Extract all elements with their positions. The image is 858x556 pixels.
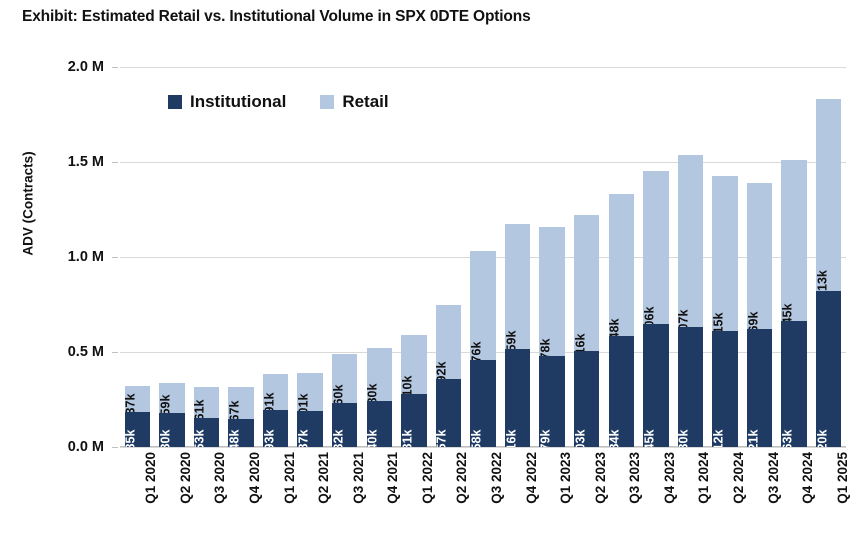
- bar-value-label-retail: 260k: [332, 385, 345, 403]
- bar-segment-retail[interactable]: 659k: [505, 224, 530, 349]
- chart-title: Exhibit: Estimated Retail vs. Institutio…: [22, 8, 531, 26]
- bar-group[interactable]: 678k479k: [539, 227, 564, 447]
- bar-value-label-retail: 137k: [125, 394, 138, 412]
- bar-value-label-institutional: 503k: [574, 429, 587, 447]
- bar-value-label-institutional: 458k: [470, 429, 483, 447]
- x-axis-tick-label: Q1 2025: [835, 452, 850, 504]
- bar-value-label-institutional: 180k: [159, 429, 172, 447]
- x-axis-tick-label: Q1 2021: [282, 452, 297, 504]
- bar-value-label-retail: 907k: [678, 309, 691, 327]
- x-axis-tick-label: Q4 2023: [662, 452, 677, 504]
- bar-value-label-retail: 716k: [574, 334, 587, 352]
- bar-segment-institutional[interactable]: 663k: [781, 321, 806, 447]
- x-axis-tick-label: Q4 2020: [247, 452, 262, 504]
- bar-group[interactable]: 201k187k: [297, 373, 322, 447]
- bar-value-label-institutional: 630k: [678, 429, 691, 447]
- bar-segment-retail[interactable]: 678k: [539, 227, 564, 356]
- bar-segment-retail[interactable]: 392k: [436, 305, 461, 379]
- bar-group[interactable]: 907k630k: [678, 155, 703, 447]
- bar-value-label-retail: 201k: [298, 394, 311, 412]
- x-axis-tick-label: Q3 2023: [627, 452, 642, 504]
- bar-segment-retail[interactable]: 167k: [228, 387, 253, 419]
- bar-value-label-institutional: 187k: [298, 429, 311, 447]
- bar-group[interactable]: 659k516k: [505, 224, 530, 447]
- legend-swatch-institutional: [168, 95, 182, 109]
- bar-group[interactable]: 716k503k: [574, 215, 599, 447]
- bar-segment-retail[interactable]: 1013k: [816, 99, 841, 291]
- legend-item[interactable]: Retail: [320, 92, 388, 112]
- bar-segment-retail[interactable]: 159k: [159, 383, 184, 413]
- x-axis-tick-label: Q3 2021: [351, 452, 366, 504]
- bar-group[interactable]: 392k357k: [436, 305, 461, 447]
- bar-segment-institutional[interactable]: 584k: [609, 336, 634, 447]
- x-axis-tick-label: Q2 2020: [178, 452, 193, 504]
- bar-segment-retail[interactable]: 161k: [194, 387, 219, 418]
- legend-swatch-retail: [320, 95, 334, 109]
- bar-segment-retail[interactable]: 310k: [401, 335, 426, 394]
- bar-segment-institutional[interactable]: 357k: [436, 379, 461, 447]
- x-axis-tick-label: Q2 2023: [593, 452, 608, 504]
- bar-segment-institutional[interactable]: 148k: [228, 419, 253, 447]
- legend-label: Retail: [342, 92, 388, 112]
- bar-segment-institutional[interactable]: 193k: [263, 410, 288, 447]
- bar-value-label-retail: 815k: [712, 313, 725, 331]
- bar-value-label-institutional: 516k: [505, 429, 518, 447]
- x-axis-tick-label: Q1 2020: [143, 452, 158, 504]
- x-axis-tick-label: Q1 2024: [696, 452, 711, 504]
- bar-value-label-retail: 659k: [505, 331, 518, 349]
- bar-value-label-retail: 161k: [194, 400, 207, 418]
- bar-value-label-retail: 280k: [367, 384, 380, 402]
- bar-segment-retail[interactable]: 137k: [125, 386, 150, 412]
- bar-value-label-retail: 576k: [470, 342, 483, 360]
- bar-segment-retail[interactable]: 907k: [678, 155, 703, 327]
- x-axis-tick-label: Q3 2024: [766, 452, 781, 504]
- bar-value-label-retail: 392k: [436, 361, 449, 379]
- bar-segment-retail[interactable]: 280k: [367, 348, 392, 401]
- y-axis-tick-label: 0.0 M: [12, 439, 104, 455]
- bar-value-label-institutional: 148k: [228, 429, 241, 447]
- legend-label: Institutional: [190, 92, 286, 112]
- bar-group[interactable]: 159k180k: [159, 383, 184, 447]
- bar-segment-institutional[interactable]: 185k: [125, 412, 150, 447]
- x-axis-tick-label: Q4 2022: [524, 452, 539, 504]
- bar-group[interactable]: 167k148k: [228, 387, 253, 447]
- bar-value-label-retail: 159k: [159, 395, 172, 413]
- bar-group[interactable]: 137k185k: [125, 386, 150, 447]
- bar-value-label-retail: 769k: [747, 311, 760, 329]
- bar-group[interactable]: 769k621k: [747, 183, 772, 447]
- bar-value-label-institutional: 612k: [712, 429, 725, 447]
- y-axis-tick-mark: [112, 67, 118, 68]
- bar-segment-retail[interactable]: 815k: [712, 176, 737, 331]
- bar-segment-retail[interactable]: 716k: [574, 215, 599, 351]
- bar-value-label-institutional: 232k: [332, 429, 345, 447]
- bar-group[interactable]: 1013k820k: [816, 99, 841, 447]
- bar-segment-institutional[interactable]: 240k: [367, 401, 392, 447]
- bar-segment-institutional[interactable]: 516k: [505, 349, 530, 447]
- x-axis-tick-label: Q1 2023: [558, 452, 573, 504]
- y-axis-tick-mark: [112, 447, 118, 448]
- gridline: [120, 447, 846, 448]
- bar-value-label-institutional: 663k: [782, 429, 795, 447]
- y-axis-tick-label: 0.5 M: [12, 344, 104, 360]
- bar-group[interactable]: 806k645k: [643, 171, 668, 447]
- bar-value-label-institutional: 584k: [609, 429, 622, 447]
- bar-value-label-institutional: 479k: [540, 429, 553, 447]
- bar-value-label-retail: 748k: [609, 318, 622, 336]
- bar-segment-institutional[interactable]: 180k: [159, 413, 184, 447]
- y-axis-tick-mark: [112, 162, 118, 163]
- bar-segment-institutional[interactable]: 612k: [712, 331, 737, 447]
- bar-segment-institutional[interactable]: 820k: [816, 291, 841, 447]
- x-axis-tick-label: Q2 2024: [731, 452, 746, 504]
- bar-value-label-retail: 806k: [643, 307, 656, 325]
- bar-group[interactable]: 845k663k: [781, 160, 806, 447]
- bar-segment-retail[interactable]: 769k: [747, 183, 772, 329]
- x-axis-tick-label: Q4 2024: [800, 452, 815, 504]
- bar-group[interactable]: 310k281k: [401, 335, 426, 447]
- bar-group[interactable]: 161k153k: [194, 387, 219, 447]
- y-axis-tick-label: 1.5 M: [12, 154, 104, 170]
- bar-segment-retail[interactable]: 845k: [781, 160, 806, 321]
- bar-segment-retail[interactable]: 748k: [609, 194, 634, 336]
- bar-segment-retail[interactable]: 201k: [297, 373, 322, 411]
- bar-value-label-retail: 845k: [782, 303, 795, 321]
- y-axis-tick-label: 1.0 M: [12, 249, 104, 265]
- bar-segment-retail[interactable]: 806k: [643, 171, 668, 324]
- bar-segment-retail[interactable]: 576k: [470, 251, 495, 360]
- bar-value-label-institutional: 153k: [194, 429, 207, 447]
- bar-value-label-retail: 1013k: [816, 270, 829, 291]
- bar-segment-institutional[interactable]: 281k: [401, 394, 426, 447]
- bar-group[interactable]: 191k193k: [263, 374, 288, 447]
- bar-segment-institutional[interactable]: 621k: [747, 329, 772, 447]
- x-axis-tick-label: Q2 2021: [316, 452, 331, 504]
- bar-segment-institutional[interactable]: 645k: [643, 324, 668, 447]
- x-axis-tick-label: Q4 2021: [385, 452, 400, 504]
- bar-value-label-retail: 678k: [540, 338, 553, 356]
- bar-group[interactable]: 748k584k: [609, 194, 634, 447]
- bar-group[interactable]: 815k612k: [712, 176, 737, 447]
- bar-segment-institutional[interactable]: 458k: [470, 360, 495, 447]
- bar-segment-retail[interactable]: 191k: [263, 374, 288, 410]
- y-axis-tick-label: 2.0 M: [12, 59, 104, 75]
- bar-value-label-institutional: 185k: [125, 429, 138, 447]
- bar-group[interactable]: 280k240k: [367, 348, 392, 447]
- legend-item[interactable]: Institutional: [168, 92, 286, 112]
- x-axis-tick-label: Q3 2022: [489, 452, 504, 504]
- bar-segment-institutional[interactable]: 503k: [574, 351, 599, 447]
- x-axis-tick-label: Q2 2022: [454, 452, 469, 504]
- bar-value-label-retail: 167k: [228, 401, 241, 419]
- bar-value-label-institutional: 281k: [401, 429, 414, 447]
- bar-value-label-institutional: 820k: [816, 429, 829, 447]
- bar-segment-institutional[interactable]: 630k: [678, 327, 703, 447]
- bar-segment-institutional[interactable]: 479k: [539, 356, 564, 447]
- x-axis-tick-label: Q1 2022: [420, 452, 435, 504]
- bar-series-layer: 137k185k159k180k161k153k167k148k191k193k…: [120, 67, 846, 447]
- bar-segment-institutional[interactable]: 153k: [194, 418, 219, 447]
- bar-value-label-retail: 191k: [263, 392, 276, 410]
- y-axis-tick-mark: [112, 257, 118, 258]
- chart-legend: InstitutionalRetail: [168, 92, 389, 112]
- bar-value-label-institutional: 357k: [436, 429, 449, 447]
- bar-segment-institutional[interactable]: 187k: [297, 411, 322, 447]
- bar-segment-institutional[interactable]: 232k: [332, 403, 357, 447]
- chart-container: Exhibit: Estimated Retail vs. Institutio…: [0, 0, 858, 556]
- bar-value-label-institutional: 645k: [643, 429, 656, 447]
- y-axis-tick-mark: [112, 352, 118, 353]
- x-axis-tick-label: Q3 2020: [212, 452, 227, 504]
- bar-group[interactable]: 260k232k: [332, 354, 357, 447]
- bar-value-label-institutional: 621k: [747, 429, 760, 447]
- bar-value-label-retail: 310k: [401, 376, 414, 394]
- bar-segment-retail[interactable]: 260k: [332, 354, 357, 403]
- bar-group[interactable]: 576k458k: [470, 251, 495, 447]
- bar-value-label-institutional: 240k: [367, 429, 380, 447]
- x-axis-labels: Q1 2020Q2 2020Q3 2020Q4 2020Q1 2021Q2 20…: [120, 452, 846, 552]
- bar-value-label-institutional: 193k: [263, 429, 276, 447]
